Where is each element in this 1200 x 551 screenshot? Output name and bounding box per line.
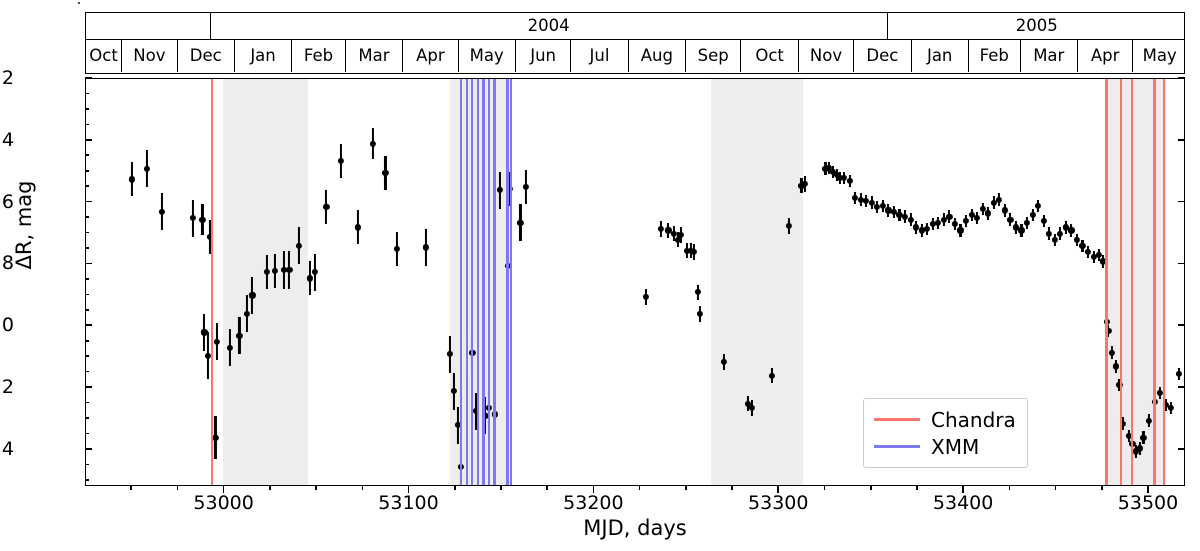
y-tick-minor: [85, 93, 89, 95]
chandra-observation-line-5: [1163, 79, 1165, 485]
x-axis-label: MJD, days: [583, 516, 686, 540]
xmm-observation-line-8: [510, 79, 512, 485]
calendar-month-3: Jan: [234, 40, 291, 72]
calendar-month-label: Mar: [358, 48, 389, 65]
x-tick-minor: [362, 486, 364, 490]
y-tick-minor: [85, 185, 89, 187]
y-tick-minor: [85, 247, 89, 249]
x-tick-minor: [685, 486, 687, 490]
calendar-month-10: Aug: [628, 40, 685, 72]
calendar-month-label: Oct: [755, 48, 784, 65]
calendar-month-label: Apr: [416, 48, 445, 65]
calendar-month-label: Sep: [698, 48, 729, 65]
calendar-month-7: May: [458, 40, 515, 72]
x-tick-minor: [824, 486, 826, 490]
legend-line-xmm: [874, 445, 920, 448]
calendar-month-1: Nov: [121, 40, 176, 72]
y-tick-minor: [85, 170, 89, 172]
legend-label-xmm: XMM: [931, 437, 979, 457]
y-tick-mark: [1178, 201, 1185, 203]
y-tick-minor: [85, 216, 89, 218]
x-tick-label-0: 53000: [193, 492, 253, 514]
x-tick-minor: [731, 486, 733, 490]
x-tick-label-3: 53300: [748, 492, 808, 514]
calendar-month-0: Oct: [86, 40, 121, 72]
x-tick-minor: [1055, 486, 1057, 490]
y-tick-minor: [85, 232, 89, 234]
y-tick-minor: [85, 433, 89, 435]
x-tick-minor: [1009, 486, 1011, 490]
x-tick-mark: [777, 486, 779, 493]
y-tick-mark: [1178, 448, 1185, 450]
calendar-month-label: Oct: [89, 48, 118, 65]
y-tick-mark: [1178, 324, 1185, 326]
calendar-year-label: 2004: [528, 18, 570, 35]
calendar-month-label: Dec: [190, 48, 222, 65]
x-tick-minor: [916, 486, 918, 490]
legend-item-xmm: XMM: [874, 433, 1016, 460]
x-tick-minor: [130, 486, 132, 490]
calendar-month-label: Aug: [641, 48, 673, 65]
y-tick-label-5: 1.2: [0, 376, 14, 398]
calendar-month-label: May: [1143, 48, 1177, 65]
calendar-month-4: Feb: [291, 40, 345, 72]
calendar-month-19: May: [1132, 40, 1186, 72]
xmm-observation-line-3: [477, 79, 479, 485]
calendar-month-18: Apr: [1077, 40, 1132, 72]
x-tick-minor: [870, 486, 872, 490]
calendar-month-12: Oct: [740, 40, 797, 72]
calendar-month-5: Mar: [345, 40, 402, 72]
xmm-observation-line-1: [466, 79, 468, 485]
y-tick-mark: [85, 77, 92, 79]
y-tick-mark: [1178, 263, 1185, 265]
y-tick-minor: [85, 278, 89, 280]
calendar-month-label: Jun: [530, 48, 556, 65]
xmm-observation-line-5: [488, 79, 490, 485]
calendar-month-label: Dec: [866, 48, 898, 65]
xmm-observation-line-7: [506, 79, 508, 485]
calendar-month-17: Mar: [1020, 40, 1077, 72]
y-tick-minor: [85, 294, 89, 296]
calendar-month-15: Jan: [911, 40, 968, 72]
chandra-observation-line-1: [1105, 79, 1107, 485]
y-tick-minor: [85, 402, 89, 404]
x-tick-minor: [454, 486, 456, 490]
y-tick-minor: [85, 108, 89, 110]
calendar-month-13: Nov: [798, 40, 853, 72]
calendar-month-label: Feb: [980, 48, 1009, 65]
y-tick-minor: [85, 417, 89, 419]
calendar-year-label: 2005: [1016, 18, 1058, 35]
y-tick-mark: [85, 201, 92, 203]
xmm-observation-line-4: [482, 79, 484, 485]
calendar-month-label: Jul: [590, 48, 610, 65]
y-tick-minor: [85, 464, 89, 466]
y-tick-minor: [85, 340, 89, 342]
x-tick-mark: [1147, 486, 1149, 493]
calendar-month-label: Apr: [1091, 48, 1120, 65]
y-tick-mark: [85, 324, 92, 326]
calendar-month-label: Jan: [927, 48, 952, 65]
legend: Chandra XMM: [863, 398, 1028, 468]
calendar-year-2005: 2005: [887, 13, 1186, 39]
x-tick-label-1: 53100: [378, 492, 438, 514]
x-tick-mark: [962, 486, 964, 493]
calendar-month-14: Dec: [853, 40, 910, 72]
x-tick-label-5: 53500: [1118, 492, 1178, 514]
chandra-observation-line-2: [1120, 79, 1122, 485]
y-tick-mark: [85, 263, 92, 265]
x-tick-minor: [500, 486, 502, 490]
y-tick-minor: [85, 479, 89, 481]
y-tick-label-0: 0.2: [0, 67, 14, 89]
y-tick-mark: [85, 386, 92, 388]
y-tick-minor: [85, 371, 89, 373]
y-tick-minor: [85, 154, 89, 156]
x-tick-minor: [1101, 486, 1103, 490]
calendar-header: 20042005 OctNovDecJanFebMarAprMayJunJulA…: [85, 12, 1185, 74]
legend-item-chandra: Chandra: [874, 406, 1016, 433]
figure-lightcurve: 20042005 OctNovDecJanFebMarAprMayJunJulA…: [0, 0, 1200, 551]
calendar-month-label: Jan: [250, 48, 275, 65]
y-tick-label-4: 1.0: [0, 314, 14, 336]
chandra-observation-line-4: [1153, 79, 1155, 485]
chandra-observation-line-0: [211, 79, 213, 485]
calendar-month-6: Apr: [402, 40, 457, 72]
y-tick-label-1: 0.4: [0, 129, 14, 151]
y-tick-minor: [85, 124, 89, 126]
x-tick-label-2: 53200: [563, 492, 623, 514]
calendar-month-2: Dec: [177, 40, 234, 72]
x-tick-minor: [639, 486, 641, 490]
calendar-year-blank: [86, 13, 210, 39]
x-tick-mark: [223, 486, 225, 493]
x-tick-minor: [315, 486, 317, 490]
xmm-observation-line-6: [493, 79, 495, 485]
y-axis-label: ΔR, mag: [12, 181, 36, 270]
y-tick-mark: [85, 448, 92, 450]
x-tick-mark: [408, 486, 410, 493]
x-tick-label-4: 53400: [933, 492, 993, 514]
y-tick-mark: [1178, 77, 1185, 79]
calendar-month-16: Feb: [968, 40, 1020, 72]
calendar-year-row: 20042005: [86, 13, 1184, 39]
calendar-month-label: Nov: [133, 48, 165, 65]
y-tick-mark: [85, 139, 92, 141]
calendar-month-11: Sep: [685, 40, 740, 72]
xmm-observation-line-0: [460, 79, 462, 485]
chandra-observation-line-3: [1131, 79, 1133, 485]
calendar-month-label: Nov: [810, 48, 842, 65]
calendar-month-label: May: [470, 48, 504, 65]
stray-pixel-dot: [78, 2, 80, 4]
x-tick-mark: [593, 486, 595, 493]
y-tick-minor: [85, 309, 89, 311]
legend-line-chandra: [874, 418, 920, 421]
calendar-month-9: Jul: [570, 40, 627, 72]
calendar-month-8: Jun: [515, 40, 570, 72]
calendar-year-2004: 2004: [210, 13, 887, 39]
calendar-month-label: Mar: [1033, 48, 1064, 65]
calendar-month-label: Feb: [304, 48, 333, 65]
x-tick-minor: [269, 486, 271, 490]
calendar-month-row: OctNovDecJanFebMarAprMayJunJulAugSepOctN…: [86, 39, 1184, 74]
y-tick-label-6: 1.4: [0, 438, 14, 460]
y-tick-mark: [1178, 139, 1185, 141]
xmm-observation-line-2: [471, 79, 473, 485]
x-tick-minor: [177, 486, 179, 490]
y-tick-mark: [1178, 386, 1185, 388]
legend-label-chandra: Chandra: [931, 410, 1016, 430]
x-tick-minor: [546, 486, 548, 490]
y-tick-minor: [85, 355, 89, 357]
